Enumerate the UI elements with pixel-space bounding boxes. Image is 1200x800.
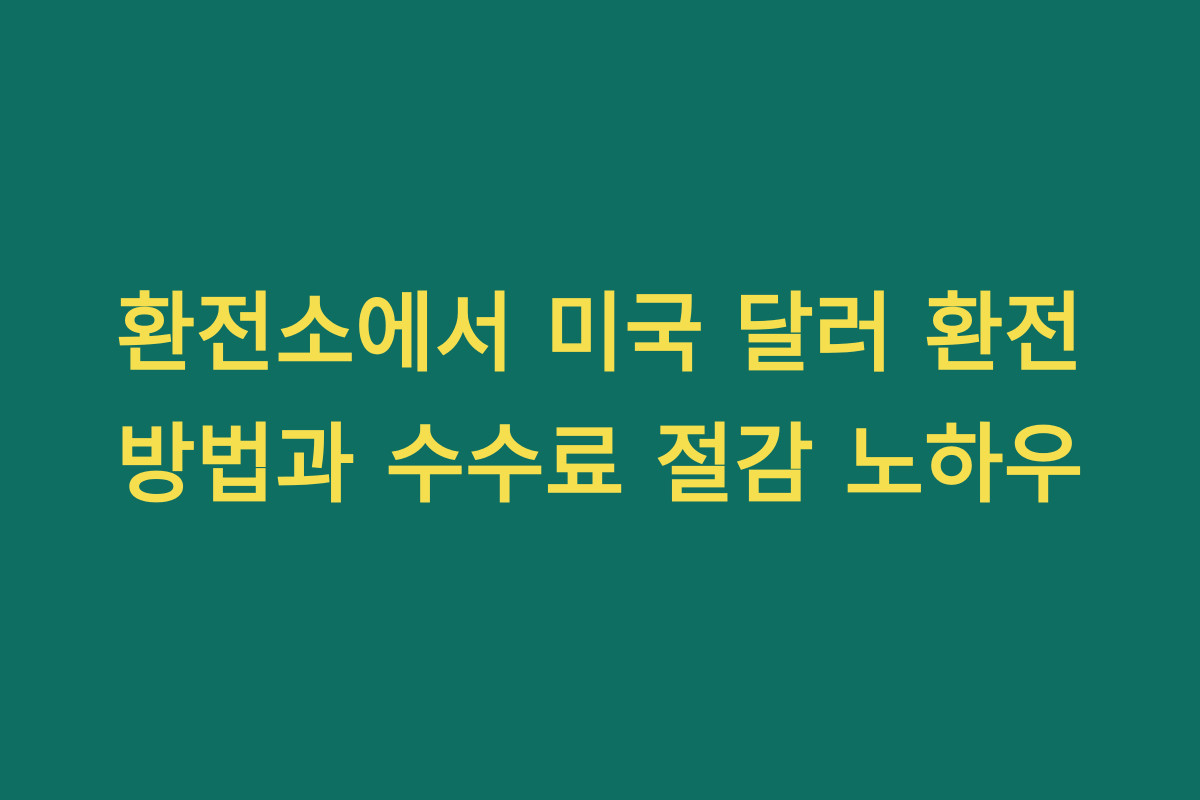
page-title: 환전소에서 미국 달러 환전 방법과 수수료 절감 노하우 xyxy=(80,269,1120,530)
headline-container: 환전소에서 미국 달러 환전 방법과 수수료 절감 노하우 xyxy=(80,269,1120,530)
title-card: 환전소에서 미국 달러 환전 방법과 수수료 절감 노하우 xyxy=(0,0,1200,800)
